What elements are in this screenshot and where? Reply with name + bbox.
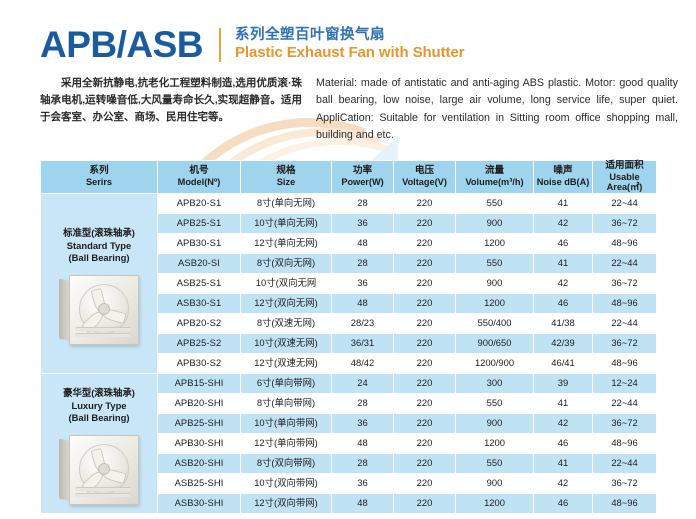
cell-area: 36~72	[593, 213, 657, 233]
subtitle-chinese: 系列全塑百叶窗换气扇	[235, 27, 464, 44]
cell-volume: 900	[456, 273, 534, 293]
series-label-cn: 标准型(滚珠轴承)	[41, 227, 157, 240]
cell-noise: 46/41	[534, 353, 593, 373]
fan-louver	[75, 327, 131, 331]
cell-area: 22~44	[593, 393, 657, 413]
cell-size: 12寸(单向无网)	[241, 233, 332, 253]
brand-title: APB/ASB	[40, 26, 203, 63]
cell-model: ASB25-SHI	[158, 473, 241, 493]
col-header-power-cn: 功率	[332, 166, 393, 177]
col-header-model: 机号 Model(Nº)	[158, 161, 241, 193]
cell-power: 28/23	[332, 313, 394, 333]
cell-model: APB25-S2	[158, 333, 241, 353]
cell-model: APB20-S2	[158, 313, 241, 333]
cell-area: 12~24	[593, 373, 657, 393]
cell-area: 22~44	[593, 193, 657, 213]
cell-voltage: 220	[394, 213, 456, 233]
cell-size: 8寸(单向无网)	[241, 193, 332, 213]
cell-noise: 41	[534, 193, 593, 213]
cell-area: 22~44	[593, 453, 657, 473]
col-header-volume-cn: 流量	[456, 166, 533, 177]
cell-volume: 550/400	[456, 313, 534, 333]
series-cell: 豪华型(滚珠轴承)Luxury Type(Ball Bearing)	[41, 373, 158, 513]
cell-model: APB30-S1	[158, 233, 241, 253]
cell-size: 12寸(双向带网)	[241, 493, 332, 513]
cell-power: 28	[332, 393, 394, 413]
cell-voltage: 220	[394, 253, 456, 273]
cell-area: 48~96	[593, 433, 657, 453]
cell-model: APB20-S1	[158, 193, 241, 213]
cell-volume: 550	[456, 253, 534, 273]
col-header-voltage-en: Voltage(V)	[394, 177, 455, 187]
cell-voltage: 220	[394, 333, 456, 353]
cell-noise: 41	[534, 453, 593, 473]
cell-voltage: 220	[394, 413, 456, 433]
cell-area: 36~72	[593, 473, 657, 493]
spec-table-wrapper: 系列 Serirs 机号 Model(Nº) 规格 Size 功率 Power(…	[40, 160, 656, 513]
cell-voltage: 220	[394, 313, 456, 333]
cell-area: 48~96	[593, 233, 657, 253]
cell-power: 28	[332, 253, 394, 273]
subtitle-english: Plastic Exhaust Fan with Shutter	[235, 44, 464, 62]
cell-volume: 550	[456, 453, 534, 473]
cell-power: 48	[332, 493, 394, 513]
cell-area: 36~72	[593, 413, 657, 433]
cell-power: 48/42	[332, 353, 394, 373]
fan-louver	[75, 333, 131, 337]
spec-table-head: 系列 Serirs 机号 Model(Nº) 规格 Size 功率 Power(…	[41, 161, 657, 193]
cell-noise: 41	[534, 393, 593, 413]
product-photo	[53, 431, 145, 509]
cell-volume: 900	[456, 213, 534, 233]
cell-power: 36/31	[332, 333, 394, 353]
cell-volume: 550	[456, 393, 534, 413]
cell-noise: 46	[534, 293, 593, 313]
cell-noise: 42	[534, 413, 593, 433]
cell-power: 36	[332, 273, 394, 293]
series-label-en2: (Ball Bearing)	[41, 412, 157, 425]
col-header-area-cn: 适用面积	[593, 161, 656, 172]
cell-model: ASB25-S1	[158, 273, 241, 293]
page-content: APB/ASB 系列全塑百叶窗换气扇 Plastic Exhaust Fan w…	[0, 0, 696, 514]
cell-model: ASB20-SHI	[158, 453, 241, 473]
col-header-power: 功率 Power(W)	[332, 161, 394, 193]
col-header-noise-cn: 噪声	[534, 166, 592, 177]
cell-volume: 300	[456, 373, 534, 393]
cell-model: APB25-SHI	[158, 413, 241, 433]
col-header-power-en: Power(W)	[332, 177, 393, 187]
product-photo	[53, 271, 145, 349]
cell-voltage: 220	[394, 353, 456, 373]
cell-power: 24	[332, 373, 394, 393]
description-chinese: 采用全新抗静电,抗老化工程塑料制造,选用优质滚·珠轴承电机,运转噪音低,大风量寿…	[40, 75, 302, 144]
series-label: 标准型(滚珠轴承)Standard Type(Ball Bearing)	[41, 217, 157, 265]
cell-power: 36	[332, 473, 394, 493]
cell-voltage: 220	[394, 233, 456, 253]
series-label: 豪华型(滚珠轴承)Luxury Type(Ball Bearing)	[41, 377, 157, 425]
cell-area: 22~44	[593, 253, 657, 273]
col-header-volume-en: Volume(m³/h)	[456, 177, 533, 187]
col-header-volume: 流量 Volume(m³/h)	[456, 161, 534, 193]
col-header-series: 系列 Serirs	[41, 161, 158, 193]
cell-size: 8寸(双向带网)	[241, 453, 332, 473]
col-header-voltage: 电压 Voltage(V)	[394, 161, 456, 193]
series-cell: 标准型(滚珠轴承)Standard Type(Ball Bearing)	[41, 193, 158, 373]
title-block: APB/ASB 系列全塑百叶窗换气扇 Plastic Exhaust Fan w…	[0, 0, 696, 63]
cell-size: 12寸(双速无网)	[241, 353, 332, 373]
cell-voltage: 220	[394, 193, 456, 213]
cell-noise: 42/39	[534, 333, 593, 353]
cell-model: APB20-SHI	[158, 393, 241, 413]
cell-area: 48~96	[593, 353, 657, 373]
cell-model: ASB30-SHI	[158, 493, 241, 513]
col-header-noise: 噪声 Noise dB(A)	[534, 161, 593, 193]
cell-area: 22~44	[593, 313, 657, 333]
cell-voltage: 220	[394, 373, 456, 393]
cell-area: 36~72	[593, 273, 657, 293]
cell-size: 6寸(单向带网)	[241, 373, 332, 393]
cell-size: 10寸(双速无网)	[241, 333, 332, 353]
cell-power: 48	[332, 233, 394, 253]
cell-size: 10寸(单向带网)	[241, 413, 332, 433]
cell-volume: 550	[456, 193, 534, 213]
cell-power: 36	[332, 413, 394, 433]
cell-voltage: 220	[394, 453, 456, 473]
fan-louver	[75, 487, 131, 491]
cell-size: 10寸(双向无网	[241, 273, 332, 293]
cell-noise: 46	[534, 433, 593, 453]
col-header-series-en: Serirs	[41, 177, 157, 187]
cell-volume: 1200	[456, 493, 534, 513]
cell-size: 10寸(双向带网)	[241, 473, 332, 493]
cell-model: APB30-SHI	[158, 433, 241, 453]
cell-size: 12寸(双向无网)	[241, 293, 332, 313]
spec-table: 系列 Serirs 机号 Model(Nº) 规格 Size 功率 Power(…	[40, 160, 657, 513]
series-label-en2: (Ball Bearing)	[41, 252, 157, 265]
cell-voltage: 220	[394, 293, 456, 313]
cell-volume: 1200	[456, 233, 534, 253]
cell-power: 48	[332, 433, 394, 453]
spec-table-body: 标准型(滚珠轴承)Standard Type(Ball Bearing)APB2…	[41, 193, 657, 513]
col-header-noise-en: Noise dB(A)	[534, 177, 592, 187]
col-header-model-en: Model(Nº)	[158, 177, 240, 187]
cell-model: APB15-SHI	[158, 373, 241, 393]
col-header-area-en: Usable Area(㎡)	[593, 172, 656, 193]
cell-power: 36	[332, 213, 394, 233]
description-row: 采用全新抗静电,抗老化工程塑料制造,选用优质滚·珠轴承电机,运转噪音低,大风量寿…	[0, 63, 696, 144]
cell-model: APB25-S1	[158, 213, 241, 233]
col-header-series-cn: 系列	[41, 166, 157, 177]
cell-volume: 900	[456, 473, 534, 493]
col-header-size: 规格 Size	[241, 161, 332, 193]
cell-power: 28	[332, 453, 394, 473]
cell-voltage: 220	[394, 473, 456, 493]
header-row: 系列 Serirs 机号 Model(Nº) 规格 Size 功率 Power(…	[41, 161, 657, 193]
cell-size: 12寸(单向带网)	[241, 433, 332, 453]
cell-noise: 41	[534, 253, 593, 273]
cell-noise: 46	[534, 233, 593, 253]
cell-voltage: 220	[394, 273, 456, 293]
description-english: Material: made of antistatic and anti-ag…	[316, 75, 678, 144]
subtitle-block: 系列全塑百叶窗换气扇 Plastic Exhaust Fan with Shut…	[235, 27, 464, 62]
title-divider	[219, 28, 221, 62]
cell-power: 48	[332, 293, 394, 313]
cell-size: 8寸(双速无网)	[241, 313, 332, 333]
cell-area: 36~72	[593, 333, 657, 353]
cell-volume: 1200	[456, 293, 534, 313]
cell-area: 48~96	[593, 293, 657, 313]
fan-louver	[75, 493, 131, 497]
cell-model: APB30-S2	[158, 353, 241, 373]
table-row: 标准型(滚珠轴承)Standard Type(Ball Bearing)APB2…	[41, 193, 657, 213]
cell-noise: 39	[534, 373, 593, 393]
cell-voltage: 220	[394, 493, 456, 513]
cell-noise: 46	[534, 493, 593, 513]
cell-voltage: 220	[394, 433, 456, 453]
col-header-area: 适用面积 Usable Area(㎡)	[593, 161, 657, 193]
col-header-model-cn: 机号	[158, 166, 240, 177]
cell-volume: 1200/900	[456, 353, 534, 373]
cell-voltage: 220	[394, 393, 456, 413]
cell-size: 10寸(单向无网)	[241, 213, 332, 233]
series-label-en1: Standard Type	[41, 240, 157, 253]
cell-model: ASB20-SI	[158, 253, 241, 273]
series-label-cn: 豪华型(滚珠轴承)	[41, 387, 157, 400]
cell-volume: 900/650	[456, 333, 534, 353]
cell-noise: 42	[534, 213, 593, 233]
series-label-en1: Luxury Type	[41, 400, 157, 413]
cell-size: 8寸(双向无网)	[241, 253, 332, 273]
cell-power: 28	[332, 193, 394, 213]
col-header-size-cn: 规格	[241, 166, 331, 177]
col-header-size-en: Size	[241, 177, 331, 187]
cell-noise: 42	[534, 273, 593, 293]
cell-model: ASB30-S1	[158, 293, 241, 313]
cell-area: 48~96	[593, 493, 657, 513]
cell-size: 8寸(单向带网)	[241, 393, 332, 413]
table-row: 豪华型(滚珠轴承)Luxury Type(Ball Bearing)APB15-…	[41, 373, 657, 393]
cell-noise: 42	[534, 473, 593, 493]
col-header-voltage-cn: 电压	[394, 166, 455, 177]
cell-noise: 41/38	[534, 313, 593, 333]
cell-volume: 1200	[456, 433, 534, 453]
cell-volume: 900	[456, 413, 534, 433]
